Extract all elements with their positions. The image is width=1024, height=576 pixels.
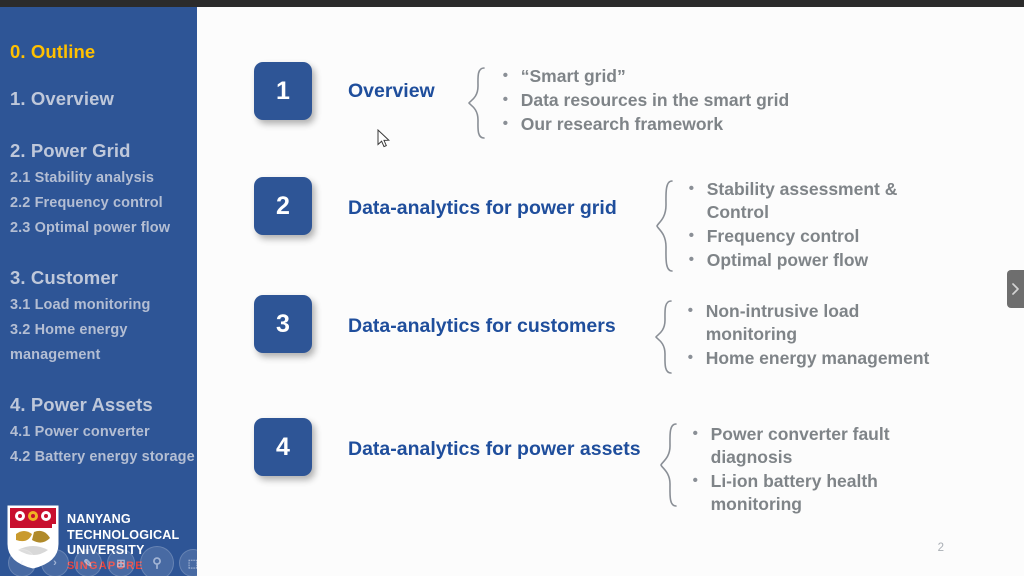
slide-section-1: 1 Overview “Smart grid” Data resources i… [254,62,789,145]
sidebar-item-label: 4.2 Battery energy storage [10,449,195,465]
section-bullets: Non-intrusive load monitoring Home energ… [684,295,944,371]
section-bullets: Power converter fault diagnosis Li-ion b… [689,418,949,517]
section-title: Data-analytics for power grid [348,177,617,220]
sidebar-item-battery-energy-storage[interactable]: 4.2 Battery energy storage [10,445,197,470]
next-slide-button[interactable]: › [41,549,69,576]
sidebar-item-home-energy-management[interactable]: 3.2 Home energy management [10,318,197,368]
presentation-controls-overlay[interactable]: ‹ › ✎ ⊞ ⚲ ⬚ ••• [8,546,197,576]
bullet-item: Optimal power flow [685,249,943,272]
sidebar-item-power-grid[interactable]: 2. Power Grid [10,140,197,162]
grid-view-icon: ⊞ [116,557,125,570]
sidebar-item-customer[interactable]: 3. Customer [10,267,197,289]
section-number-badge: 1 [254,62,312,120]
expand-panel-toggle[interactable] [1007,270,1024,308]
sidebar-item-overview[interactable]: 1. Overview [10,88,197,110]
bullet-item: Data resources in the smart grid [499,89,789,112]
bullet-item: Stability assessment & Control [685,178,943,224]
sidebar-item-label: 4. Power Assets [10,394,153,415]
sidebar-item-label: 3.1 Load monitoring [10,297,150,313]
sidebar-item-stability-analysis[interactable]: 2.1 Stability analysis [10,166,197,191]
sidebar-item-label: 2.3 Optimal power flow [10,220,170,236]
sidebar-item-label: 3. Customer [10,267,118,288]
bullet-item: Li-ion battery health monitoring [689,470,949,516]
window-top-chrome [0,0,1024,7]
zoom-button[interactable]: ⚲ [140,546,174,576]
section-bullets: “Smart grid” Data resources in the smart… [499,62,789,137]
sidebar-item-load-monitoring[interactable]: 3.1 Load monitoring [10,293,197,318]
section-title: Data-analytics for customers [348,295,616,338]
magnifier-icon: ⚲ [152,555,162,571]
slide-section-2: 2 Data-analytics for power grid Stabilit… [254,177,943,278]
section-number: 3 [276,310,290,339]
logo-line-2: TECHNOLOGICAL [67,528,179,544]
sidebar-item-label: 0. Outline [10,41,95,62]
next-slide-icon: › [53,557,57,569]
sidebar-item-label: 2.1 Stability analysis [10,170,154,186]
brace-icon [659,418,681,513]
chevron-right-icon [1011,282,1020,296]
sidebar-item-power-assets[interactable]: 4. Power Assets [10,394,197,416]
sidebar-item-optimal-power-flow[interactable]: 2.3 Optimal power flow [10,216,197,241]
mouse-cursor [377,129,391,154]
brace-icon [655,177,677,278]
grid-view-button[interactable]: ⊞ [107,549,135,576]
brace-icon [654,295,676,380]
sidebar-item-frequency-control[interactable]: 2.2 Frequency control [10,191,197,216]
bullet-item: Power converter fault diagnosis [689,423,949,469]
section-number-badge: 4 [254,418,312,476]
sidebar-item-label: 3.2 Home energy management [10,322,128,363]
logo-line-1: NANYANG [67,512,179,528]
bullet-item: Non-intrusive load monitoring [684,300,944,346]
sidebar-item-label: 2.2 Frequency control [10,195,163,211]
brace-icon [467,62,489,145]
slide-section-4: 4 Data-analytics for power assets Power … [254,418,949,517]
pointer-tool-icon: ✎ [83,557,92,570]
previous-slide-button[interactable]: ‹ [8,549,36,576]
bullet-item: Our research framework [499,113,789,136]
section-number-badge: 2 [254,177,312,235]
fullscreen-icon: ⬚ [188,557,197,570]
pointer-tool-button[interactable]: ✎ [74,549,102,576]
bullet-item: “Smart grid” [499,65,789,88]
sidebar-item-label: 1. Overview [10,88,114,109]
slide-section-3: 3 Data-analytics for customers Non-intru… [254,295,944,380]
section-number: 1 [276,77,290,106]
section-number-badge: 3 [254,295,312,353]
sidebar-item-power-converter[interactable]: 4.1 Power converter [10,420,197,445]
previous-slide-icon: ‹ [20,557,24,569]
sidebar-item-label: 4.1 Power converter [10,424,150,440]
section-number: 2 [276,192,290,221]
sidebar-item-outline[interactable]: 0. Outline [10,41,197,63]
outline-sidebar[interactable]: 0. Outline 1. Overview 2. Power Grid 2.1… [0,7,197,576]
presentation-viewer: 0. Outline 1. Overview 2. Power Grid 2.1… [0,0,1024,576]
section-title: Data-analytics for power assets [348,418,641,461]
section-title: Overview [348,62,435,103]
page-number: 2 [938,542,944,554]
section-bullets: Stability assessment & Control Frequency… [685,177,943,273]
slide-canvas: 1 Overview “Smart grid” Data resources i… [197,7,1024,576]
sidebar-item-label: 2. Power Grid [10,140,131,161]
bullet-item: Home energy management [684,347,944,370]
section-number: 4 [276,433,290,462]
bullet-item: Frequency control [685,225,943,248]
fullscreen-button[interactable]: ⬚ [179,549,197,576]
